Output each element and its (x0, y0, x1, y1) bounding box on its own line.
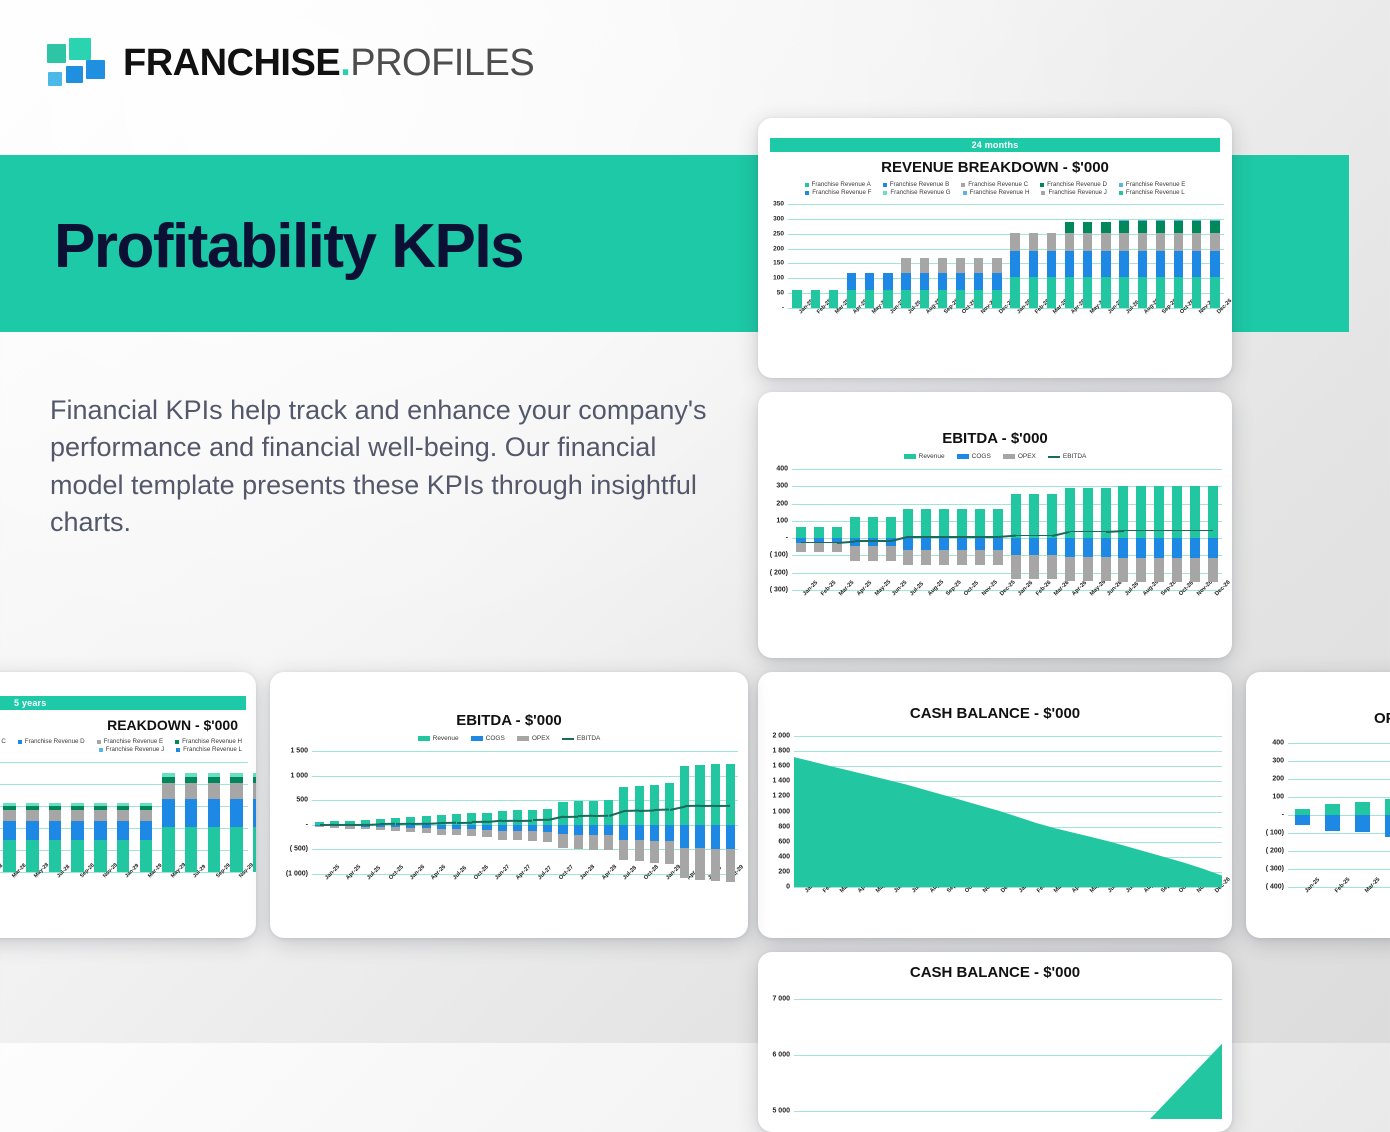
bar-segment (589, 835, 598, 850)
bar-segment (726, 849, 735, 882)
bar-segment (162, 783, 174, 799)
bar-segment (1083, 277, 1092, 308)
ebitda-line-segment (1141, 530, 1159, 532)
y-axis-tick: - (1282, 812, 1284, 819)
chart-title-ebitda-5y: EBITDA - $'000 (270, 712, 748, 729)
bar-segment (1192, 220, 1201, 221)
ebitda-line-segment (457, 821, 472, 823)
bar-segment (695, 765, 704, 825)
card-revenue-24m[interactable]: 24 months REVENUE BREAKDOWN - $'000 Fran… (758, 118, 1232, 378)
bar-segment (938, 258, 947, 273)
bar-segment (886, 546, 896, 561)
bar-segment (1210, 221, 1219, 233)
bar-segment (1156, 233, 1165, 251)
ebitda-line-segment (926, 536, 944, 538)
legend-item: COGS (957, 453, 991, 460)
logo-wordmark: FRANCHISE.PROFILES (123, 44, 534, 82)
y-axis-tick: 1 500 (290, 748, 308, 755)
bar-segment (903, 509, 913, 538)
gridline (1288, 833, 1390, 834)
legend-swatch (805, 191, 809, 195)
bar-segment (920, 290, 929, 308)
bar-segment (1119, 277, 1128, 308)
bar-segment (1192, 251, 1201, 277)
bar-segment (391, 827, 400, 831)
bar-segment (230, 799, 242, 827)
ebitda-line-segment (1016, 535, 1034, 537)
bar-segment (1101, 222, 1110, 232)
y-axis-tick: (1 000) (286, 871, 308, 878)
y-axis-tick: ( 500) (290, 846, 308, 853)
legend-label: Franchise Revenue G (890, 189, 950, 196)
bar-segment (903, 550, 913, 566)
bar-segment (1210, 233, 1219, 251)
bar-segment (558, 834, 567, 848)
x-axis-tick: Jan-25 (324, 864, 341, 881)
legend-item: Franchise Revenue D (18, 738, 85, 745)
bar-segment (865, 273, 874, 290)
bar-segment (253, 777, 256, 783)
bar-segment (1174, 220, 1183, 221)
x-axis-tick: Apr-25 (345, 864, 362, 881)
bar-segment (619, 787, 628, 824)
bar-segment (868, 517, 878, 538)
legend-item: Franchise Revenue H (175, 738, 242, 745)
bar-segment (1156, 277, 1165, 308)
ebitda-line-segment (1105, 529, 1123, 532)
bar-segment (253, 799, 256, 827)
ebitda-line-segment (411, 823, 426, 825)
bar-segment (619, 825, 628, 840)
legend-swatch (1040, 183, 1044, 187)
bar-segment (604, 800, 613, 825)
bar-segment (1118, 538, 1128, 557)
bar-segment (1029, 233, 1038, 251)
y-axis-tick: 350 (773, 201, 784, 208)
bar-segment (939, 538, 949, 550)
x-axis-tick: Dec-26 (1214, 580, 1232, 598)
bar-segment (847, 273, 856, 290)
y-axis-tick: - (782, 305, 784, 312)
card-revenue-5y[interactable]: 5 years REAKDOWN - $'000 Franchise Reven… (0, 672, 256, 938)
plot-revenue-24m: 35030025020015010050-Jan-25Feb-25Mar-25A… (758, 200, 1232, 350)
card-cash-24m[interactable]: CASH BALANCE - $'000 2 0001 8001 6001 40… (758, 672, 1232, 938)
bar-segment (1385, 799, 1390, 815)
y-axis-tick: ( 300) (770, 587, 788, 594)
bar-segment (957, 509, 967, 538)
bar-segment (230, 783, 242, 799)
ebitda-line-segment (639, 809, 654, 811)
bar-segment (162, 777, 174, 783)
legend-item: Franchise Revenue B (883, 181, 950, 188)
bar-segment (26, 806, 38, 810)
legend-swatch (1041, 191, 1045, 195)
bar-segment (992, 258, 1001, 273)
bar-segment (635, 786, 644, 824)
x-axis-tick: Oct-26 (473, 864, 490, 881)
bar-segment (230, 827, 242, 872)
legend-label: EBITDA (1063, 453, 1086, 460)
bar-segment (832, 527, 842, 538)
bar-segment (711, 849, 720, 881)
legend-label: Franchise Revenue H (182, 738, 242, 745)
bar-segment (26, 821, 38, 840)
ebitda-line-segment (819, 542, 837, 544)
bar-segment (650, 825, 659, 841)
gridline (312, 800, 738, 801)
bar-segment (868, 538, 878, 546)
bar-segment (814, 543, 824, 553)
plot-cash-24m: 2 0001 8001 6001 4001 2001 0008006004002… (758, 730, 1232, 935)
bar-segment (3, 821, 15, 840)
bar-segment (3, 806, 15, 810)
logo-square-2 (69, 38, 91, 60)
x-axis-tick: Dec-25 (999, 580, 1017, 598)
y-axis-tick: 200 (776, 500, 788, 507)
bar-segment (140, 803, 152, 806)
ebitda-line-segment (335, 824, 350, 826)
bar-segment (883, 273, 892, 290)
legend-swatch (963, 191, 967, 195)
bar-segment (574, 825, 583, 835)
bar-segment (992, 290, 1001, 308)
bar-segment (1065, 277, 1074, 308)
card-badge-5-years: 5 years (0, 696, 246, 710)
bar-segment (1101, 233, 1110, 251)
bar-segment (406, 828, 415, 832)
card-ebitda-5y[interactable]: EBITDA - $'000 RevenueCOGSOPEXEBITDA 1 5… (270, 672, 748, 938)
x-axis-tick: Apr-26 (1071, 580, 1088, 597)
card-opex-partial[interactable]: OPE 400300200100-( 100)( 200)( 300)( 400… (1246, 672, 1390, 938)
bar-segment (1083, 222, 1092, 232)
bar-segment (650, 785, 659, 824)
legend-label: Franchise Revenue B (890, 181, 950, 188)
bar-segment (208, 777, 220, 783)
legend-item: OPEX (1003, 453, 1036, 460)
bar-segment (1208, 538, 1218, 557)
bar-segment (117, 803, 129, 806)
bar-segment (711, 764, 720, 825)
bar-segment (1047, 251, 1056, 277)
bar-segment (1172, 558, 1182, 582)
bar-segment (974, 290, 983, 308)
bar-segment (792, 290, 801, 308)
legend-label: Franchise Revenue C (968, 181, 1028, 188)
legend-item: Franchise Revenue E (97, 738, 164, 745)
legend-item: Franchise Revenue D (1040, 181, 1107, 188)
bar-segment (3, 803, 15, 806)
bar-segment (315, 826, 324, 827)
x-axis-tick: Jan-28 (579, 864, 596, 881)
legend-swatch (1119, 183, 1123, 187)
legend-label: Franchise Revenue H (970, 189, 1030, 196)
y-axis-tick: ( 300) (1266, 866, 1284, 873)
x-axis-tick: Mar-26 (1053, 580, 1070, 597)
bar-segment (992, 273, 1001, 290)
area-series (758, 989, 1232, 1119)
bar-segment (117, 810, 129, 820)
y-axis-tick: 1 000 (290, 772, 308, 779)
bar-segment (1047, 277, 1056, 308)
bar-segment (1010, 233, 1019, 251)
bar-segment (1138, 277, 1147, 308)
bar-segment (901, 290, 910, 308)
bar-segment (695, 825, 704, 849)
ebitda-line-segment (1159, 530, 1177, 532)
bar-segment (94, 806, 106, 810)
bar-segment (208, 799, 220, 827)
bar-segment (185, 783, 197, 799)
bar-segment (993, 538, 1003, 550)
y-axis-tick: 300 (1272, 758, 1284, 765)
legend-item: Franchise Revenue C (0, 738, 6, 745)
bar-segment (1047, 233, 1056, 251)
bar-segment (1119, 251, 1128, 277)
bar-segment (1011, 538, 1021, 554)
y-axis-tick: ( 400) (1266, 884, 1284, 891)
bar-segment (635, 825, 644, 840)
x-axis-tick: Feb-25 (820, 580, 837, 597)
legend-revenue-24m: Franchise Revenue AFranchise Revenue BFr… (758, 181, 1232, 197)
legend-label: EBITDA (577, 735, 600, 742)
x-axis-tick: Apr-26 (430, 864, 447, 881)
legend-label: Franchise Revenue A (812, 181, 871, 188)
x-axis-tick: Jan-26 (1017, 580, 1034, 597)
bar-segment (162, 827, 174, 872)
bar-segment (71, 806, 83, 810)
y-axis-tick: 300 (776, 483, 788, 490)
bar-segment (1325, 815, 1340, 831)
plot-ebitda-5y: 1 5001 000500-( 500)(1 000)Jan-25Apr-25J… (270, 745, 748, 920)
bar-segment (543, 825, 552, 832)
bar-segment (513, 831, 522, 840)
bar-segment (1138, 251, 1147, 277)
legend-swatch (1048, 456, 1060, 458)
bar-segment (437, 829, 446, 835)
bar-segment (253, 773, 256, 777)
bar-segment (604, 835, 613, 850)
bar-segment (185, 799, 197, 827)
y-axis-tick: - (786, 535, 788, 542)
bar-segment (1355, 815, 1370, 832)
legend-swatch (562, 738, 574, 740)
ebitda-line-segment (502, 820, 517, 822)
bar-segment (1119, 233, 1128, 251)
legend-swatch (957, 454, 969, 459)
bar-segment (230, 777, 242, 783)
chart-title-cash-24m: CASH BALANCE - $'000 (758, 705, 1232, 722)
x-axis-tick: Feb-26 (1035, 580, 1052, 597)
legend-label: Franchise Revenue L (183, 746, 242, 753)
legend-swatch (99, 748, 103, 752)
bar-segment (482, 813, 491, 825)
legend-item: Franchise Revenue H (963, 189, 1030, 196)
ebitda-line-segment (517, 819, 532, 821)
bar-segment (1138, 233, 1147, 251)
gridline (1288, 797, 1390, 798)
ebitda-line-segment (873, 540, 891, 542)
bar-segment (117, 821, 129, 840)
bar-segment (939, 509, 949, 538)
bar-segment (975, 550, 985, 566)
bar-segment (920, 258, 929, 273)
legend-item: Franchise Revenue J (1041, 189, 1106, 196)
ebitda-line-segment (1088, 531, 1106, 533)
y-axis-tick: 100 (1272, 794, 1284, 801)
bar-segment (452, 829, 461, 835)
bar-segment (1325, 804, 1340, 815)
bar-segment (49, 806, 61, 810)
x-axis-tick: Jun-26 (1106, 580, 1123, 597)
bar-segment (1101, 557, 1111, 581)
bar-segment (467, 829, 476, 836)
x-axis-tick: Aug-25 (927, 579, 945, 597)
bar-segment (974, 273, 983, 290)
legend-label: OPEX (532, 735, 550, 742)
bar-segment (1083, 557, 1093, 581)
bar-segment (140, 810, 152, 820)
bar-segment (619, 840, 628, 861)
bar-segment (1210, 251, 1219, 277)
bar-segment (921, 550, 931, 566)
legend-label: Franchise Revenue E (104, 738, 164, 745)
bar-segment (162, 799, 174, 827)
plot-ebitda-24m: 400300200100-( 100)( 200)( 300)Jan-25Feb… (758, 463, 1232, 638)
bar-segment (94, 821, 106, 840)
y-axis-tick: ( 200) (770, 569, 788, 576)
legend-label: Revenue (919, 453, 945, 460)
bar-segment (3, 810, 15, 820)
bar-segment (1156, 221, 1165, 233)
bar-segment (1208, 558, 1218, 582)
gridline (1288, 743, 1390, 744)
ebitda-line-segment (563, 815, 578, 817)
intro-paragraph: Financial KPIs help track and enhance yo… (50, 392, 710, 541)
card-ebitda-24m[interactable]: EBITDA - $'000 RevenueCOGSOPEXEBITDA 400… (758, 392, 1232, 658)
bar-segment (1101, 277, 1110, 308)
bar-segment (1119, 220, 1128, 221)
bar-segment (1210, 220, 1219, 221)
plot-opex: 400300200100-( 100)( 200)( 300)( 400)Jan… (1246, 737, 1390, 937)
bar-segment (865, 290, 874, 308)
bar-segment (796, 527, 806, 538)
x-axis-tick: Sep-26 (1160, 580, 1178, 598)
y-axis-tick: 50 (777, 290, 784, 297)
bar-segment (901, 273, 910, 290)
gridline (1288, 779, 1390, 780)
legend-swatch (1119, 191, 1123, 195)
bar-segment (26, 840, 38, 872)
x-axis-tick: Jan-29 (665, 864, 682, 881)
legend-label: Franchise Revenue J (1048, 189, 1106, 196)
logo-mark-icon (47, 38, 109, 88)
x-axis-tick: Apr-28 (601, 864, 618, 881)
x-axis-tick: Nov-25 (981, 579, 999, 597)
legend-item: Revenue (904, 453, 945, 460)
bar-segment (49, 803, 61, 806)
legend-item: Franchise Revenue J (99, 746, 164, 753)
ebitda-line-segment (350, 824, 365, 826)
bar-segment (574, 801, 583, 825)
legend-swatch (883, 191, 887, 195)
card-cash-5y[interactable]: CASH BALANCE - $'000 7 0006 0005 000 (758, 952, 1232, 1132)
bar-segment (1174, 221, 1183, 233)
gridline (312, 849, 738, 850)
bar-segment (726, 825, 735, 849)
bar-segment (140, 840, 152, 872)
bar-segment (1136, 558, 1146, 582)
y-axis-tick: 100 (773, 275, 784, 282)
bar-segment (422, 828, 431, 833)
bar-segment (253, 827, 256, 872)
bar-segment (868, 546, 878, 561)
bar-segment (1385, 815, 1390, 837)
gridline (0, 762, 248, 763)
bar-segment (498, 811, 507, 825)
bar-segment (117, 840, 129, 872)
y-axis-tick: 250 (773, 230, 784, 237)
ebitda-line-segment (441, 822, 456, 824)
bar-segment (975, 509, 985, 538)
legend-swatch (904, 454, 916, 459)
ebitda-line-segment (1034, 535, 1052, 537)
legend-item: COGS (471, 735, 505, 742)
gridline (792, 469, 1222, 470)
bar-segment (665, 825, 674, 841)
bar-segment (528, 810, 537, 825)
legend-item: Revenue (418, 735, 459, 742)
bar-segment (185, 773, 197, 777)
legend-swatch (517, 736, 529, 741)
bar-segment (513, 810, 522, 825)
bar-segment (49, 810, 61, 820)
bar-segment (1065, 251, 1074, 277)
bar-segment (230, 773, 242, 777)
bar-segment (680, 825, 689, 848)
legend-label: Franchise Revenue F (812, 189, 871, 196)
bar-segment (938, 273, 947, 290)
bar-segment (726, 764, 735, 825)
chart-title-cash-5y: CASH BALANCE - $'000 (758, 964, 1232, 981)
bar-segment (1210, 277, 1219, 308)
bar-segment (1083, 233, 1092, 251)
ebitda-line-segment (1123, 530, 1141, 532)
chart-title-ebitda-24m: EBITDA - $'000 (758, 430, 1232, 447)
plot-cash-5y: 7 0006 0005 000 (758, 989, 1232, 1119)
gridline (788, 204, 1224, 205)
bar-segment (974, 258, 983, 273)
legend-swatch (1003, 454, 1015, 459)
bar-segment (921, 538, 931, 550)
x-axis-tick: Jan-27 (494, 864, 511, 881)
bar-segment (1065, 538, 1075, 557)
x-axis-tick: Oct-25 (963, 580, 980, 597)
bar-segment (1029, 251, 1038, 277)
bar-segment (253, 783, 256, 799)
legend-label: Franchise Revenue D (1047, 181, 1107, 188)
bar-segment (1154, 538, 1164, 557)
ebitda-line-segment (855, 540, 873, 542)
bar-segment (957, 550, 967, 566)
bar-segment (94, 803, 106, 806)
bar-segment (117, 806, 129, 810)
y-axis-tick: 200 (1272, 776, 1284, 783)
bar-segment (1083, 251, 1092, 277)
legend-label: Franchise Revenue C (0, 738, 6, 745)
bar-segment (1047, 555, 1057, 579)
bar-segment (185, 827, 197, 872)
bar-segment (921, 509, 931, 538)
